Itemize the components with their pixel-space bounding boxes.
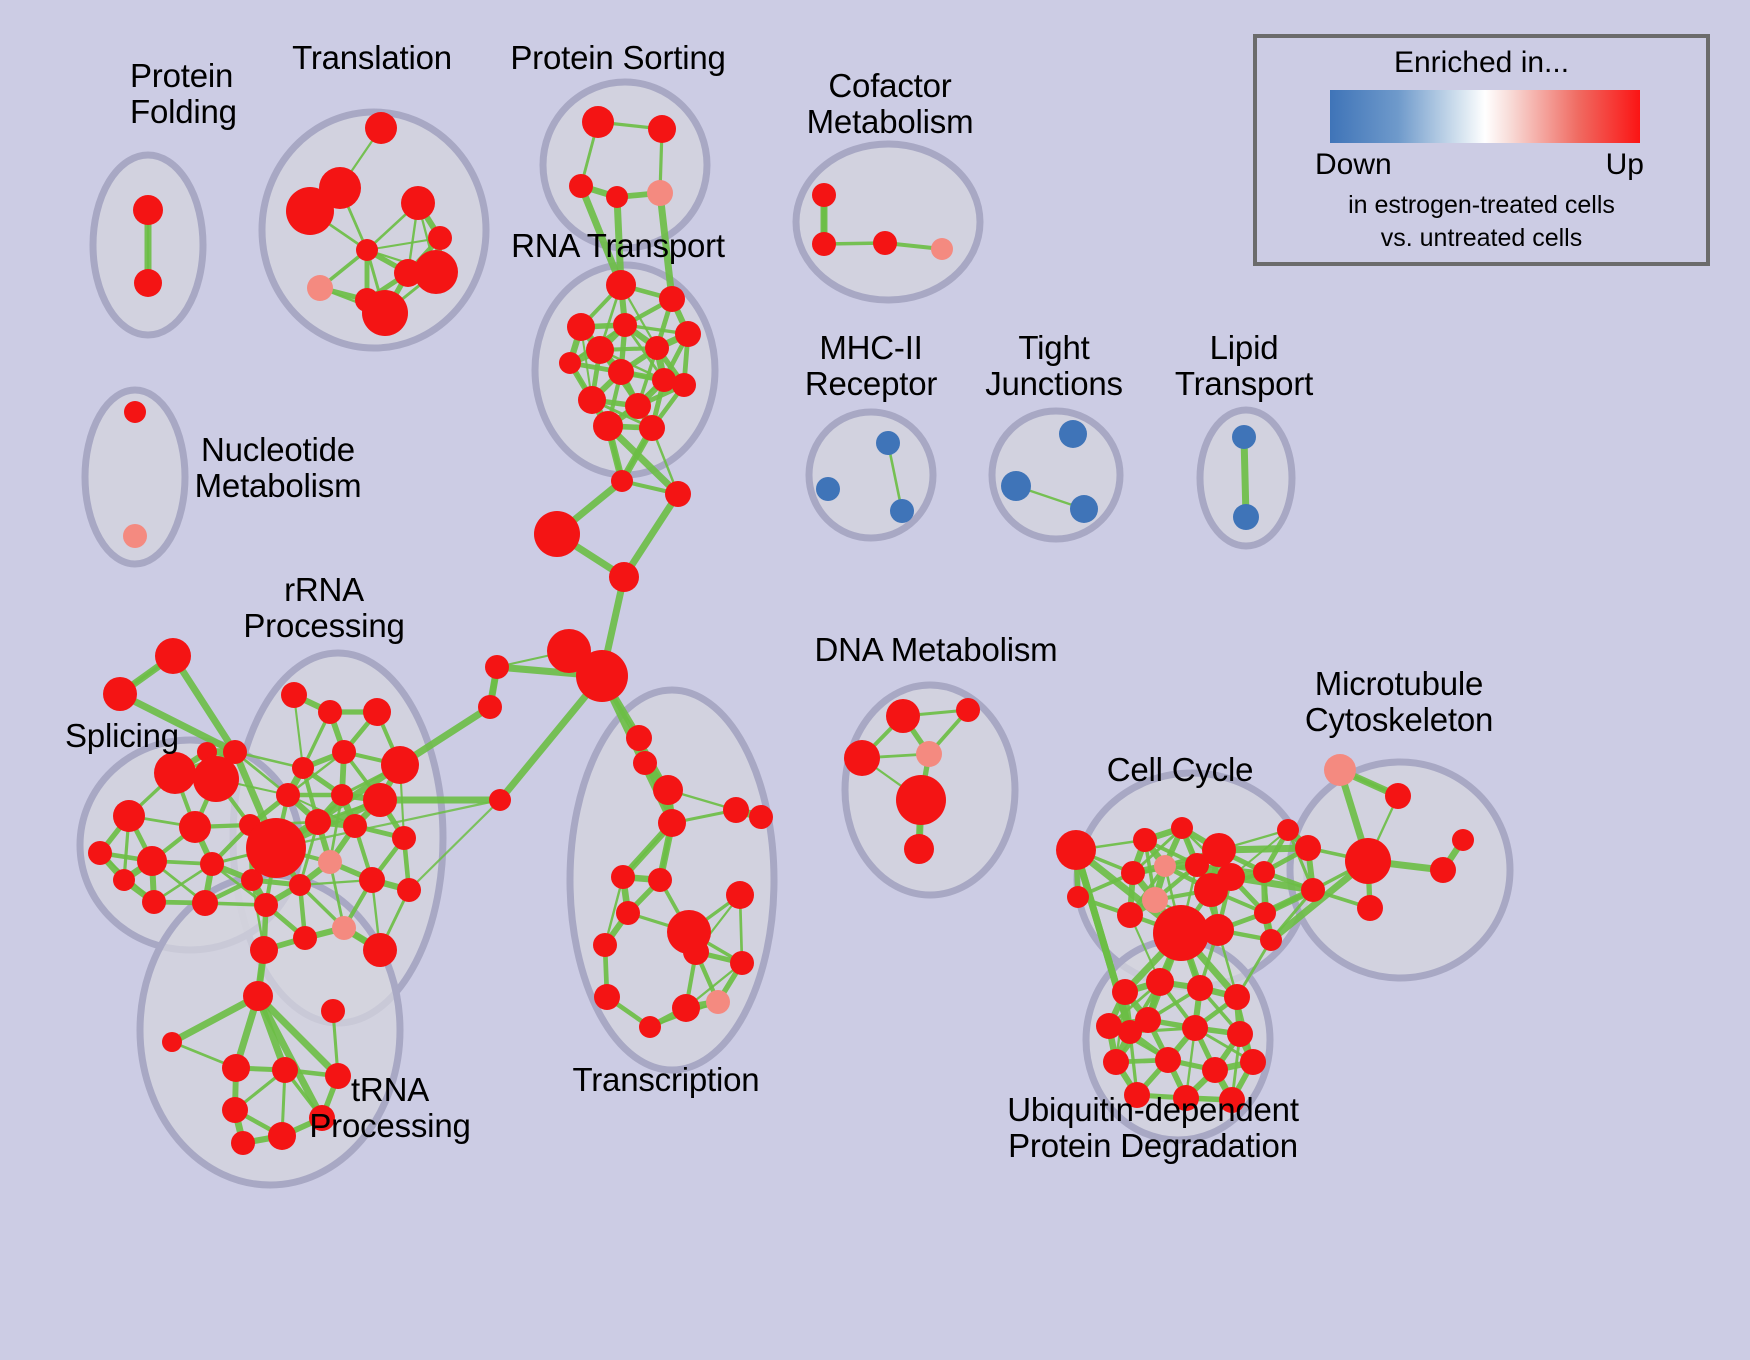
cluster-label-tight-junctions: Tight Junctions xyxy=(985,330,1123,401)
network-node[interactable] xyxy=(1345,838,1391,884)
network-node[interactable] xyxy=(397,878,421,902)
network-node[interactable] xyxy=(749,805,773,829)
cluster-label-microtubule: Microtubule Cytoskeleton xyxy=(1305,666,1493,737)
network-node[interactable] xyxy=(567,313,595,341)
network-node[interactable] xyxy=(154,752,196,794)
network-node[interactable] xyxy=(276,783,300,807)
network-node[interactable] xyxy=(1324,754,1356,786)
legend-color-gradient-bar xyxy=(1330,90,1640,143)
network-node[interactable] xyxy=(1260,929,1282,951)
cluster-label-trna-processing: tRNA Processing xyxy=(309,1072,470,1143)
network-node[interactable] xyxy=(289,874,311,896)
network-node[interactable] xyxy=(231,1131,255,1155)
network-node[interactable] xyxy=(1233,504,1259,530)
network-node[interactable] xyxy=(611,470,633,492)
network-node[interactable] xyxy=(873,231,897,255)
network-node[interactable] xyxy=(356,239,378,261)
network-node[interactable] xyxy=(331,784,353,806)
network-node[interactable] xyxy=(1146,968,1174,996)
network-node[interactable] xyxy=(647,180,673,206)
network-node[interactable] xyxy=(730,951,754,975)
network-node[interactable] xyxy=(142,890,166,914)
network-node[interactable] xyxy=(578,386,606,414)
enrichment-network-figure: Protein FoldingTranslationProtein Sortin… xyxy=(0,0,1750,1360)
network-node[interactable] xyxy=(307,275,333,301)
network-node[interactable] xyxy=(392,826,416,850)
network-node[interactable] xyxy=(222,1097,248,1123)
network-node[interactable] xyxy=(103,677,137,711)
cluster-label-splicing: Splicing xyxy=(65,718,179,754)
legend-high-label: Up xyxy=(1606,148,1644,182)
network-node[interactable] xyxy=(816,477,840,501)
network-node[interactable] xyxy=(489,789,511,811)
network-node[interactable] xyxy=(876,431,900,455)
network-node[interactable] xyxy=(113,800,145,832)
network-node[interactable] xyxy=(133,195,163,225)
network-node[interactable] xyxy=(609,562,639,592)
network-node[interactable] xyxy=(672,373,696,397)
cluster-label-protein-folding: Protein Folding xyxy=(130,58,237,129)
network-node[interactable] xyxy=(653,775,683,805)
network-node[interactable] xyxy=(1070,495,1098,523)
network-node[interactable] xyxy=(723,797,749,823)
cluster-label-translation: Translation xyxy=(292,40,452,76)
network-node[interactable] xyxy=(1385,783,1411,809)
network-node[interactable] xyxy=(576,650,628,702)
network-node[interactable] xyxy=(134,269,162,297)
network-node[interactable] xyxy=(672,994,700,1022)
network-node[interactable] xyxy=(645,336,669,360)
network-node[interactable] xyxy=(931,238,953,260)
network-node[interactable] xyxy=(582,106,614,138)
cluster-label-protein-sorting: Protein Sorting xyxy=(510,40,725,76)
network-node[interactable] xyxy=(616,901,640,925)
network-node[interactable] xyxy=(343,814,367,838)
network-node[interactable] xyxy=(593,411,623,441)
network-node[interactable] xyxy=(586,336,614,364)
network-node[interactable] xyxy=(1253,861,1275,883)
network-node[interactable] xyxy=(381,746,419,784)
network-node[interactable] xyxy=(593,933,617,957)
network-node[interactable] xyxy=(896,775,946,825)
network-node[interactable] xyxy=(667,910,711,954)
legend-panel: Enriched in... Down Up in estrogen-treat… xyxy=(1253,34,1710,266)
cluster-label-lipid-transport: Lipid Transport xyxy=(1175,330,1313,401)
cluster-label-cell-cycle: Cell Cycle xyxy=(1107,752,1254,788)
network-node[interactable] xyxy=(179,811,211,843)
network-node[interactable] xyxy=(485,655,509,679)
legend-subtitle-line-1: in estrogen-treated cells xyxy=(1257,191,1706,220)
network-node[interactable] xyxy=(124,401,146,423)
network-node[interactable] xyxy=(665,481,691,507)
cluster-label-nucleotide: Nucleotide Metabolism xyxy=(195,432,362,503)
network-node[interactable] xyxy=(1185,853,1209,877)
network-node[interactable] xyxy=(401,186,435,220)
network-node[interactable] xyxy=(886,699,920,733)
network-node[interactable] xyxy=(639,415,665,441)
network-node[interactable] xyxy=(155,638,191,674)
network-node[interactable] xyxy=(414,250,458,294)
network-node[interactable] xyxy=(1117,902,1143,928)
network-node[interactable] xyxy=(1194,873,1228,907)
network-node[interactable] xyxy=(243,981,273,1011)
cluster-label-mhc-ii: MHC-II Receptor xyxy=(805,330,937,401)
network-node[interactable] xyxy=(534,511,580,557)
network-node[interactable] xyxy=(706,990,730,1014)
network-node[interactable] xyxy=(1232,425,1256,449)
network-node[interactable] xyxy=(1001,471,1031,501)
cluster-label-ubiquitin: Ubiquitin-dependent Protein Degradation xyxy=(1007,1092,1299,1163)
network-node[interactable] xyxy=(1103,1049,1129,1075)
network-node[interactable] xyxy=(625,393,651,419)
network-node[interactable] xyxy=(363,698,391,726)
network-node[interactable] xyxy=(88,841,112,865)
network-node[interactable] xyxy=(1059,420,1087,448)
network-node[interactable] xyxy=(272,1057,298,1083)
network-node[interactable] xyxy=(1155,1047,1181,1073)
network-node[interactable] xyxy=(726,881,754,909)
network-node[interactable] xyxy=(321,999,345,1023)
network-node[interactable] xyxy=(652,368,676,392)
network-node[interactable] xyxy=(648,115,676,143)
network-node[interactable] xyxy=(1240,1049,1266,1075)
network-node[interactable] xyxy=(658,809,686,837)
network-node[interactable] xyxy=(332,916,356,940)
network-node[interactable] xyxy=(613,313,637,337)
cluster-label-dna-metabolism: DNA Metabolism xyxy=(815,632,1058,668)
network-node[interactable] xyxy=(318,700,342,724)
network-node[interactable] xyxy=(250,936,278,964)
network-node[interactable] xyxy=(1142,887,1168,913)
network-node[interactable] xyxy=(246,818,306,878)
network-node[interactable] xyxy=(633,751,657,775)
cluster-hull-protein-sorting xyxy=(543,82,707,248)
network-node[interactable] xyxy=(1187,975,1213,1001)
network-node[interactable] xyxy=(606,186,628,208)
network-node[interactable] xyxy=(639,1016,661,1038)
network-node[interactable] xyxy=(1112,979,1138,1005)
network-node[interactable] xyxy=(1277,819,1299,841)
network-node[interactable] xyxy=(1430,857,1456,883)
network-node[interactable] xyxy=(137,846,167,876)
network-node[interactable] xyxy=(812,183,836,207)
network-node[interactable] xyxy=(363,933,397,967)
network-node[interactable] xyxy=(365,112,397,144)
network-node[interactable] xyxy=(1182,1015,1208,1041)
network-node[interactable] xyxy=(812,232,836,256)
network-node[interactable] xyxy=(192,890,218,916)
network-node[interactable] xyxy=(123,524,147,548)
network-node[interactable] xyxy=(606,270,636,300)
network-node[interactable] xyxy=(193,756,239,802)
network-node[interactable] xyxy=(611,865,635,889)
network-node[interactable] xyxy=(956,698,980,722)
network-node[interactable] xyxy=(1301,878,1325,902)
network-node[interactable] xyxy=(890,499,914,523)
network-node[interactable] xyxy=(1224,984,1250,1010)
network-node[interactable] xyxy=(1067,886,1089,908)
cluster-label-rna-transport: RNA Transport xyxy=(511,228,725,264)
network-node[interactable] xyxy=(254,893,278,917)
network-node[interactable] xyxy=(1096,1013,1122,1039)
network-node[interactable] xyxy=(268,1122,296,1150)
network-node[interactable] xyxy=(305,809,331,835)
network-node[interactable] xyxy=(162,1032,182,1052)
network-node[interactable] xyxy=(428,226,452,250)
network-node[interactable] xyxy=(1295,835,1321,861)
network-node[interactable] xyxy=(292,757,314,779)
cluster-hull-mhc-ii xyxy=(809,412,933,538)
network-node[interactable] xyxy=(1121,861,1145,885)
network-node[interactable] xyxy=(1056,830,1096,870)
network-node[interactable] xyxy=(569,174,593,198)
network-node[interactable] xyxy=(904,834,934,864)
network-node[interactable] xyxy=(113,869,135,891)
network-node[interactable] xyxy=(286,187,334,235)
cluster-label-cofactor: Cofactor Metabolism xyxy=(807,68,974,139)
legend-subtitle-line-2: vs. untreated cells xyxy=(1257,224,1706,253)
network-node[interactable] xyxy=(659,286,685,312)
network-node[interactable] xyxy=(1452,829,1474,851)
network-node[interactable] xyxy=(1254,902,1276,924)
network-node[interactable] xyxy=(1171,817,1193,839)
network-node[interactable] xyxy=(1202,1057,1228,1083)
network-node[interactable] xyxy=(359,867,385,893)
network-node[interactable] xyxy=(1357,895,1383,921)
network-node[interactable] xyxy=(478,695,502,719)
cluster-label-transcription: Transcription xyxy=(573,1062,760,1098)
network-node[interactable] xyxy=(1202,914,1234,946)
network-node[interactable] xyxy=(281,682,307,708)
network-node[interactable] xyxy=(844,740,880,776)
network-node[interactable] xyxy=(648,868,672,892)
network-node[interactable] xyxy=(1154,855,1176,877)
network-node[interactable] xyxy=(1227,1021,1253,1047)
network-node[interactable] xyxy=(559,352,581,374)
network-node[interactable] xyxy=(626,725,652,751)
figure-canvas: Protein FoldingTranslationProtein Sortin… xyxy=(0,0,1750,1360)
network-node[interactable] xyxy=(293,926,317,950)
network-node[interactable] xyxy=(200,852,224,876)
network-node[interactable] xyxy=(222,1054,250,1082)
network-node[interactable] xyxy=(916,741,942,767)
cluster-label-rrna-processing: rRNA Processing xyxy=(243,572,404,643)
network-node[interactable] xyxy=(1133,828,1157,852)
network-node[interactable] xyxy=(362,290,408,336)
network-node[interactable] xyxy=(675,321,701,347)
network-node[interactable] xyxy=(608,359,634,385)
network-node[interactable] xyxy=(1153,905,1209,961)
network-node[interactable] xyxy=(318,850,342,874)
network-node[interactable] xyxy=(332,740,356,764)
network-node[interactable] xyxy=(594,984,620,1010)
network-node[interactable] xyxy=(1135,1007,1161,1033)
legend-title: Enriched in... xyxy=(1257,46,1706,80)
network-node[interactable] xyxy=(363,783,397,817)
legend-low-label: Down xyxy=(1315,148,1392,182)
